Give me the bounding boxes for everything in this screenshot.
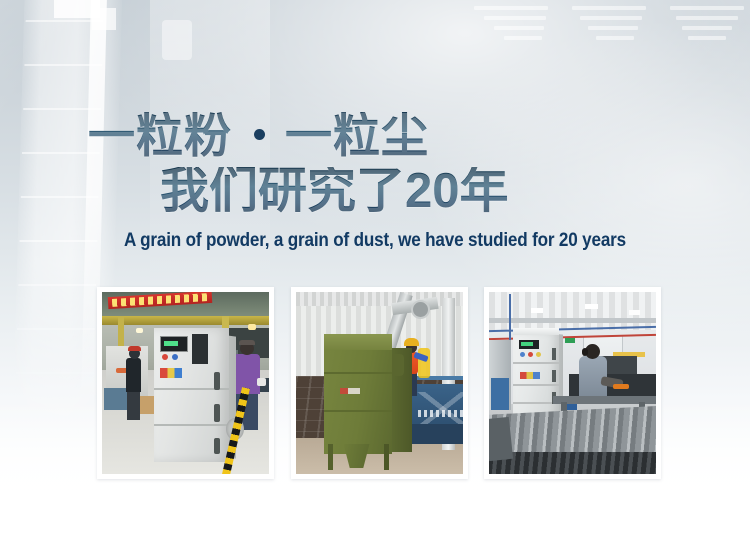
photo-strip <box>97 287 661 479</box>
background-panel-tab-secondary <box>92 8 116 30</box>
headline-line-1: 一粒粉一粒尘 <box>88 112 429 159</box>
photo2-green-collector-unit <box>324 340 392 454</box>
photo-green-dust-collector-install <box>296 292 463 474</box>
photo-frame-2 <box>291 287 468 479</box>
promo-banner: 一粒粉一粒尘 我们研究了20年 A grain of powder, a gra… <box>0 0 750 550</box>
photo-workshop-dust-collector <box>489 292 656 474</box>
headline-subtitle: A grain of powder, a grain of dust, we h… <box>38 230 713 252</box>
background-fixture <box>162 20 192 60</box>
photo-frame-3 <box>484 287 661 479</box>
headline-line-1-part-1: 一粒粉 <box>88 109 232 162</box>
background-ceiling-trusses <box>448 0 750 114</box>
photo-frame-1 <box>97 287 274 479</box>
photo-dust-collector-assembly-floor <box>102 292 269 474</box>
headline-line-1-part-2: 一粒尘 <box>285 109 429 162</box>
headline-line-2: 我们研究了20年 <box>160 167 509 216</box>
bullet-separator-icon <box>254 129 265 140</box>
